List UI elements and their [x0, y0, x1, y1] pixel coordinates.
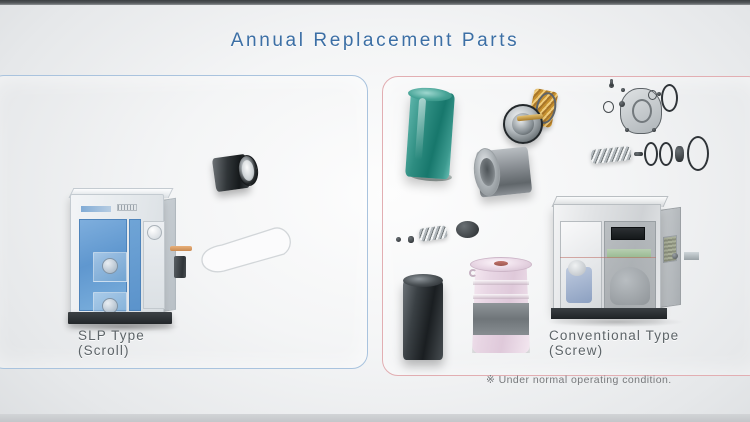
air-filter — [401, 272, 449, 364]
footnote-text: ※ Under normal operating condition. — [486, 374, 672, 386]
bucket-label — [473, 303, 529, 335]
seal-nut — [675, 146, 684, 162]
top-edge-bar — [0, 0, 750, 5]
o-ring-upper-a — [603, 101, 614, 113]
gasket-large-bore — [632, 99, 652, 123]
copper-pipe — [170, 246, 192, 251]
screw-compressor-unit — [551, 196, 686, 328]
spacer-bar — [634, 152, 643, 156]
o-ring-upper-large — [661, 84, 678, 112]
gasket-bolt-hole-3 — [625, 128, 629, 132]
air-filter-top — [403, 274, 443, 287]
vent-grille-icon — [117, 204, 137, 211]
bucket-rib-lower — [473, 294, 529, 299]
o-ring-mid-a — [644, 142, 658, 166]
internal-receiver-tank — [610, 267, 650, 305]
caption-line-2: (Scroll) — [78, 343, 145, 358]
drive-belt — [198, 224, 294, 276]
internal-divider-line — [560, 257, 656, 258]
o-ring-mid-b — [659, 142, 673, 166]
panel-slp-scroll — [0, 75, 368, 369]
pin-upper — [610, 79, 613, 86]
washer-small-a — [396, 237, 401, 242]
page-title: Annual Replacement Parts — [0, 30, 750, 52]
blue-access-panel — [79, 219, 127, 311]
gasket-bolt-hole-1 — [621, 88, 625, 92]
brand-logo — [81, 206, 111, 212]
pressure-gauge-icon — [147, 225, 162, 240]
bucket-handle — [469, 269, 477, 277]
oil-separator-element — [478, 145, 546, 201]
control-panel — [611, 227, 645, 240]
caption-line-1: Conventional Type — [549, 328, 679, 343]
oil-filter — [406, 86, 458, 184]
internal-motor-fan — [568, 260, 586, 276]
screw-unit-shadow — [549, 317, 683, 327]
slide-canvas: Annual Replacement Parts — [0, 0, 750, 422]
valve-disc — [456, 221, 479, 238]
scroll-compressor-unit — [66, 188, 178, 328]
bucket-rib-upper — [473, 280, 529, 285]
bottom-edge-bar — [0, 414, 750, 422]
drive-belt-outline — [198, 224, 294, 276]
cabinet-front-face — [70, 194, 164, 316]
gasket-bolt-hole-4 — [652, 128, 656, 132]
bucket-spout-cap — [494, 261, 508, 266]
blue-access-panel-narrow — [129, 219, 141, 311]
scroll-module-upper — [102, 258, 118, 274]
o-ring-upper-b — [648, 90, 657, 100]
control-display — [684, 252, 699, 260]
air-filter-barrel — [403, 280, 443, 360]
washer-upper-a — [619, 101, 625, 107]
caption-conventional-type: Conventional Type (Screw) — [549, 328, 679, 358]
side-canister — [174, 256, 186, 278]
washer-small-b — [408, 236, 414, 243]
caption-slp-type: SLP Type (Scroll) — [78, 328, 145, 358]
oil-mist-separator-filter — [214, 150, 260, 196]
caption-line-1: SLP Type — [78, 328, 145, 343]
o-ring-mid-large — [687, 136, 709, 171]
lubricant-oil-bucket — [468, 253, 536, 361]
oil-filter-barrel — [405, 91, 455, 180]
control-knob-icon — [672, 253, 678, 259]
caption-line-2: (Screw) — [549, 343, 679, 358]
thermostat-valve — [503, 88, 565, 150]
screw-cabinet-front — [553, 204, 661, 312]
